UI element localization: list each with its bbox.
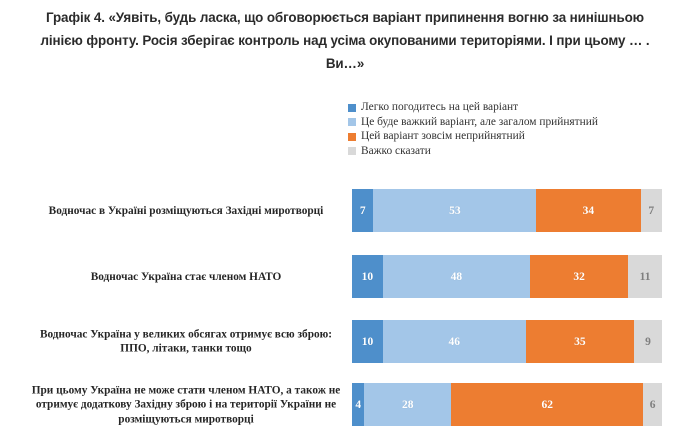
bar-segment: 62 [451, 383, 643, 426]
legend-item[interactable]: Цей варіант зовсім неприйнятний [348, 129, 668, 144]
legend-swatch-icon [348, 118, 356, 126]
bar-segment: 28 [364, 383, 451, 426]
legend-item[interactable]: Важко сказати [348, 144, 668, 159]
bar-segment: 6 [643, 383, 662, 426]
chart-bar-row: При цьому Україна не може стати членом Н… [0, 383, 690, 426]
bar-segment: 34 [536, 189, 640, 232]
bar-segment: 35 [526, 320, 635, 363]
legend-item-label: Цей варіант зовсім неприйнятний [361, 130, 525, 142]
bar-segment: 11 [628, 255, 662, 298]
stacked-bar: 10483211 [352, 255, 662, 298]
bar-segment: 32 [530, 255, 628, 298]
bar-segment-value: 35 [574, 336, 586, 348]
chart-bar-row: Водночас Україна у великих обсягах отрим… [0, 320, 690, 363]
bar-segment: 10 [352, 320, 383, 363]
bar-segment-value: 53 [449, 205, 461, 217]
legend-item[interactable]: Легко погодитесь на цей варіант [348, 100, 668, 115]
bar-segment-value: 46 [449, 336, 461, 348]
bar-segment-value: 10 [362, 271, 374, 283]
bar-segment-value: 6 [650, 399, 656, 411]
bar-segment-value: 7 [360, 205, 366, 217]
legend-swatch-icon [348, 133, 356, 141]
bar-segment: 10 [352, 255, 383, 298]
bar-category-label: Водночас Україна у великих обсягах отрим… [30, 327, 342, 356]
bar-category-label: Водночас Україна стає членом НАТО [30, 269, 342, 284]
bar-segment-value: 4 [355, 399, 361, 411]
bar-segment: 9 [634, 320, 662, 363]
legend-item-label: Це буде важкий варіант, але загалом прий… [361, 116, 598, 128]
bar-segment: 46 [383, 320, 526, 363]
chart-bar-row: Водночас в Україні розміщуються Західні … [0, 189, 690, 232]
bar-segment-value: 10 [362, 336, 374, 348]
bar-segment: 48 [383, 255, 530, 298]
stacked-bar: 428626 [352, 383, 662, 426]
bar-segment: 7 [352, 189, 373, 232]
legend-swatch-icon [348, 147, 356, 155]
legend-item-label: Важко сказати [361, 145, 431, 157]
bar-segment: 4 [352, 383, 364, 426]
bar-segment-value: 7 [648, 205, 654, 217]
bar-segment-value: 32 [573, 271, 585, 283]
bar-segment: 7 [641, 189, 662, 232]
bar-segment-value: 48 [451, 271, 463, 283]
bar-segment-value: 9 [645, 336, 651, 348]
bar-segment-value: 62 [542, 399, 554, 411]
bar-segment-value: 28 [402, 399, 414, 411]
bar-segment-value: 34 [583, 205, 595, 217]
legend-item[interactable]: Це буде важкий варіант, але загалом прий… [348, 115, 668, 130]
stacked-bar: 753347 [352, 189, 662, 232]
page-title: Графік 4. «Уявіть, будь ласка, що обгово… [33, 6, 657, 75]
bar-segment: 53 [373, 189, 536, 232]
chart-legend: Легко погодитесь на цей варіант Це буде … [348, 100, 668, 158]
legend-swatch-icon [348, 104, 356, 112]
stacked-bar: 1046359 [352, 320, 662, 363]
chart-bar-row: Водночас Україна стає членом НАТО1048321… [0, 255, 690, 298]
bar-category-label: При цьому Україна не може стати членом Н… [30, 383, 342, 427]
legend-item-label: Легко погодитесь на цей варіант [361, 101, 518, 113]
bar-category-label: Водночас в Україні розміщуються Західні … [30, 203, 342, 218]
bar-segment-value: 11 [640, 271, 651, 283]
chart-plot-area: Водночас в Україні розміщуються Західні … [0, 183, 690, 434]
